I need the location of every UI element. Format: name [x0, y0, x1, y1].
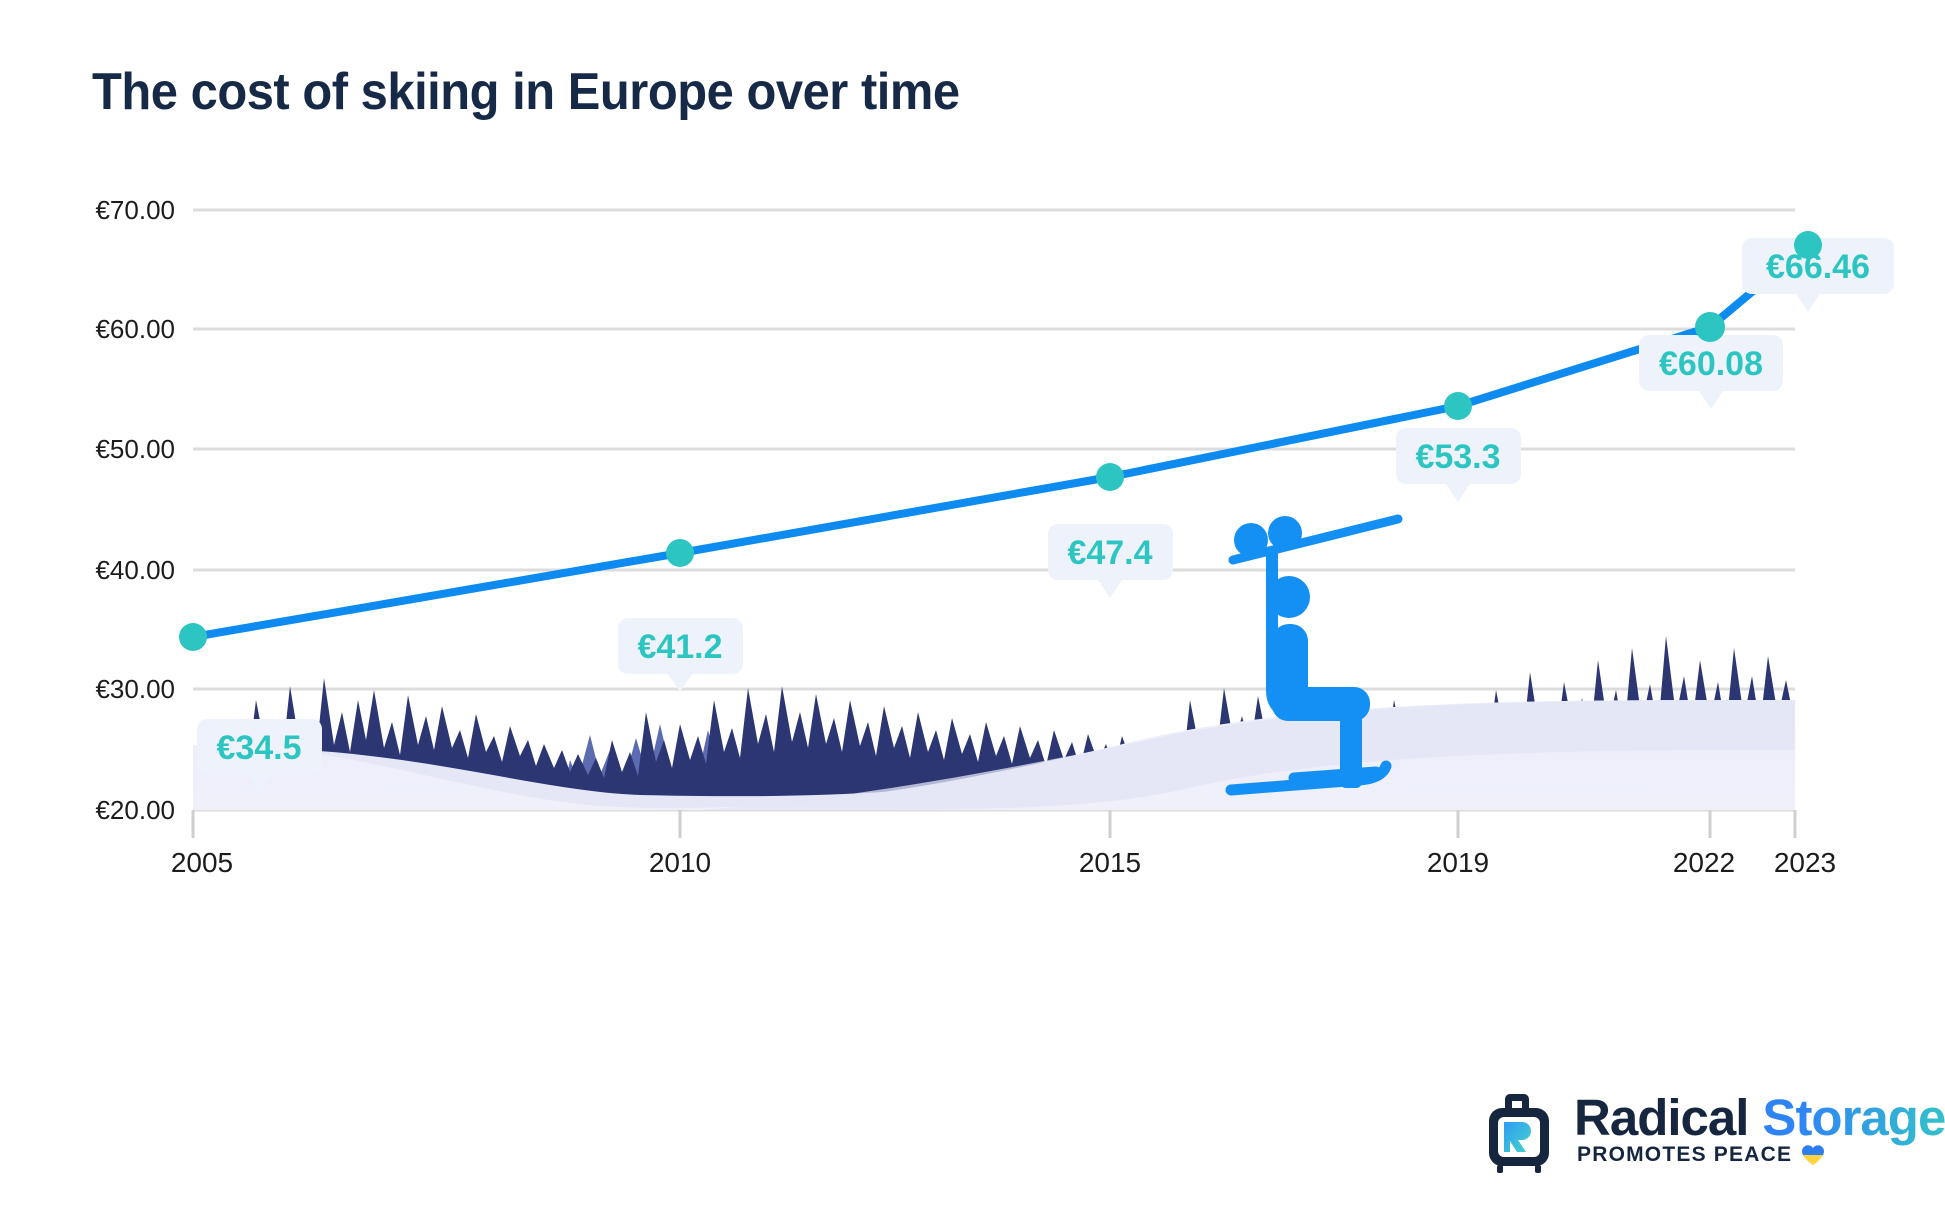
data-points[interactable]: [179, 231, 1822, 651]
data-label: €60.08: [1639, 335, 1783, 409]
y-tick-label: €50.00: [95, 434, 175, 464]
data-point[interactable]: [179, 623, 207, 651]
data-label-text: €34.5: [216, 729, 301, 767]
y-tick-label: €30.00: [95, 674, 175, 704]
data-label-text: €60.08: [1659, 345, 1763, 383]
y-tick-label: €20.00: [95, 795, 175, 825]
ukraine-heart-icon: [1801, 1144, 1825, 1166]
y-tick-label: €60.00: [95, 314, 175, 344]
y-axis-labels: €70.00 €60.00 €50.00 €40.00 €30.00 €20.0…: [95, 195, 175, 825]
data-point[interactable]: [666, 539, 694, 567]
data-point[interactable]: [1096, 463, 1124, 491]
data-point[interactable]: [1695, 312, 1725, 342]
data-label: €47.4: [1048, 524, 1173, 598]
y-tick-label: €40.00: [95, 555, 175, 585]
chart-svg: €70.00 €60.00 €50.00 €40.00 €30.00 €20.0…: [0, 0, 1945, 1223]
brand-logo[interactable]: Radical Storage PROMOTES PEACE: [1482, 1088, 1945, 1174]
suitcase-icon: [1482, 1088, 1560, 1174]
x-tick-label: 2023: [1774, 847, 1836, 878]
logo-name-primary: Radical: [1574, 1088, 1748, 1147]
pine-forest-illustration: [193, 636, 1795, 810]
data-label-text: €47.4: [1067, 534, 1152, 572]
x-axis-ticks: [193, 810, 1795, 838]
x-tick-label: 2010: [649, 847, 711, 878]
data-label-text: €41.2: [637, 628, 722, 666]
y-tick-label: €70.00: [95, 195, 175, 225]
data-label: €41.2: [618, 618, 743, 692]
logo-name-secondary: Storage: [1762, 1088, 1945, 1147]
data-label-text: €53.3: [1415, 438, 1500, 476]
x-tick-label: 2019: [1427, 847, 1489, 878]
logo-tagline: PROMOTES PEACE: [1577, 1143, 1792, 1167]
data-label: €53.3: [1396, 428, 1521, 502]
data-point[interactable]: [1444, 392, 1472, 420]
x-tick-label: 2005: [171, 847, 233, 878]
x-tick-label: 2015: [1079, 847, 1141, 878]
data-point[interactable]: [1794, 231, 1822, 259]
trend-line: [193, 245, 1808, 637]
chart-container: The cost of skiing in Europe over time €…: [0, 0, 1945, 1223]
x-axis-labels: 2005 2010 2015 2019 2022 2023: [171, 847, 1836, 878]
x-tick-label: 2022: [1673, 847, 1735, 878]
